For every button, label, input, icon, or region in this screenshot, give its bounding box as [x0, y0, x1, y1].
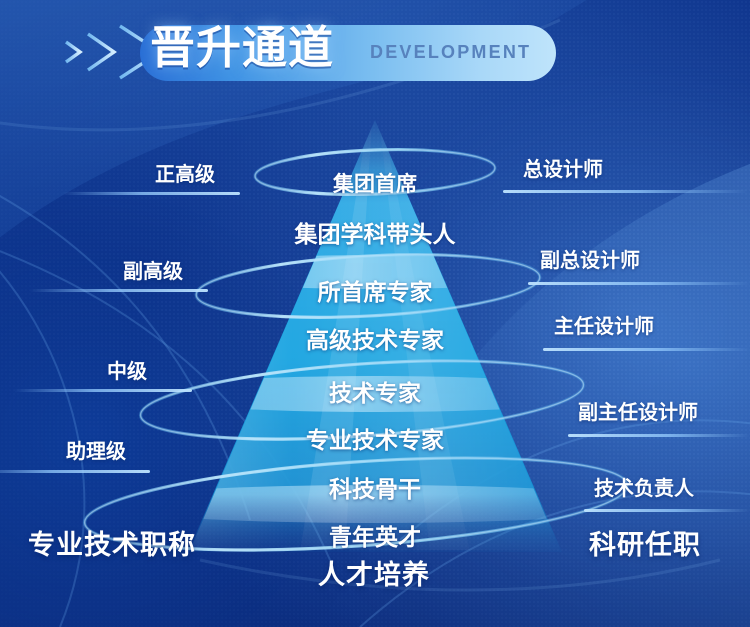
page-title: 晋升通道 [150, 20, 334, 76]
left-rank-2: 中级 [107, 355, 147, 384]
left-column-heading: 专业技术职称 [28, 523, 196, 562]
left-rank-1: 副高级 [123, 255, 183, 284]
left-rank-0: 正高级 [155, 158, 215, 187]
right-rank-1: 副总设计师 [540, 244, 640, 273]
page-subtitle: DEVELOPMENT [370, 38, 531, 66]
right-rank-2: 主任设计师 [554, 310, 654, 339]
poster-header: 晋升通道 DEVELOPMENT [0, 0, 750, 105]
left-rule-0 [62, 192, 240, 195]
right-rule-0 [503, 190, 748, 193]
left-rank-3: 助理级 [66, 435, 126, 464]
right-rule-1 [528, 282, 750, 285]
left-rule-3 [0, 470, 150, 473]
promo-poster: 晋升通道 DEVELOPMENT [0, 0, 750, 627]
right-rule-4 [584, 509, 750, 512]
right-rule-3 [568, 434, 750, 437]
right-rank-0: 总设计师 [523, 153, 603, 182]
right-rank-4: 技术负责人 [594, 472, 694, 501]
right-rule-2 [543, 348, 750, 351]
right-column-heading: 科研任职 [589, 523, 701, 562]
right-rank-3: 副主任设计师 [578, 396, 698, 425]
left-rule-2 [14, 389, 192, 392]
left-rule-1 [30, 289, 208, 292]
center-caption: 人才培养 [318, 553, 430, 592]
